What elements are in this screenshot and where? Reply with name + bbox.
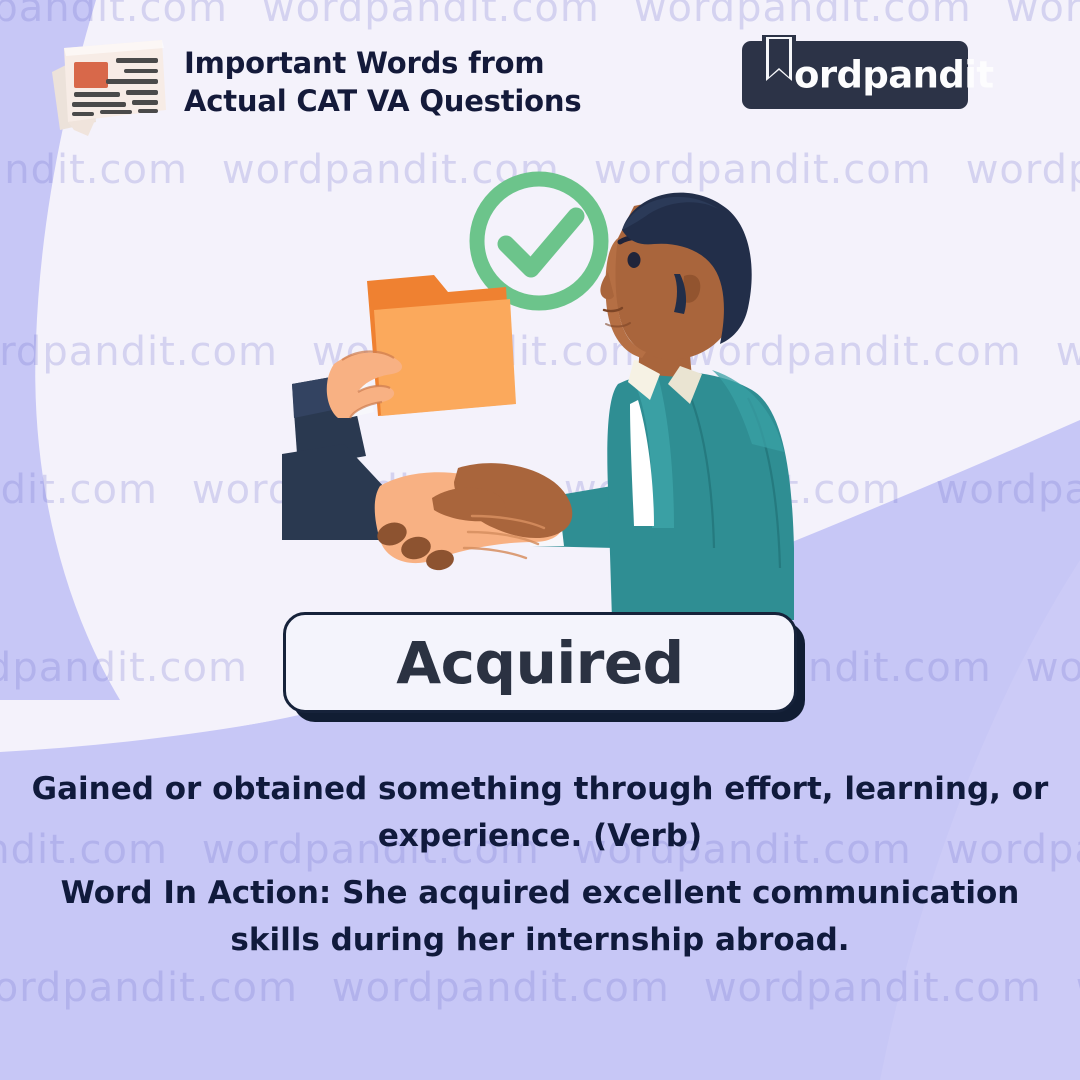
header-title: Important Words from Actual CAT VA Quest… [184, 44, 581, 121]
handshake-hands [374, 463, 572, 572]
definition-block: Gained or obtained something through eff… [30, 766, 1050, 964]
handshake-folder-approval-illustration [282, 168, 802, 620]
logo-text: ordpandit [794, 54, 993, 97]
wordpandit-logo[interactable]: ordpandit [742, 41, 968, 109]
newspaper-icon [44, 26, 170, 136]
green-check-circle-icon [477, 179, 601, 303]
word-card[interactable]: Acquired [283, 612, 797, 713]
poster-canvas: wordpandit.comwordpandit.comwordpandit.c… [0, 0, 1080, 1080]
header-bar: Important Words from Actual CAT VA Quest… [0, 0, 1080, 145]
header-title-line-1: Important Words from [184, 44, 581, 82]
word-in-action-example: Word In Action: She acquired excellent c… [30, 870, 1050, 964]
right-person-figure [600, 193, 794, 620]
word-card-wrapper: Acquired [283, 612, 805, 722]
illustration-svg [282, 168, 802, 620]
vocabulary-word: Acquired [396, 629, 683, 697]
word-definition: Gained or obtained something through eff… [30, 766, 1050, 860]
header-title-line-2: Actual CAT VA Questions [184, 82, 581, 120]
